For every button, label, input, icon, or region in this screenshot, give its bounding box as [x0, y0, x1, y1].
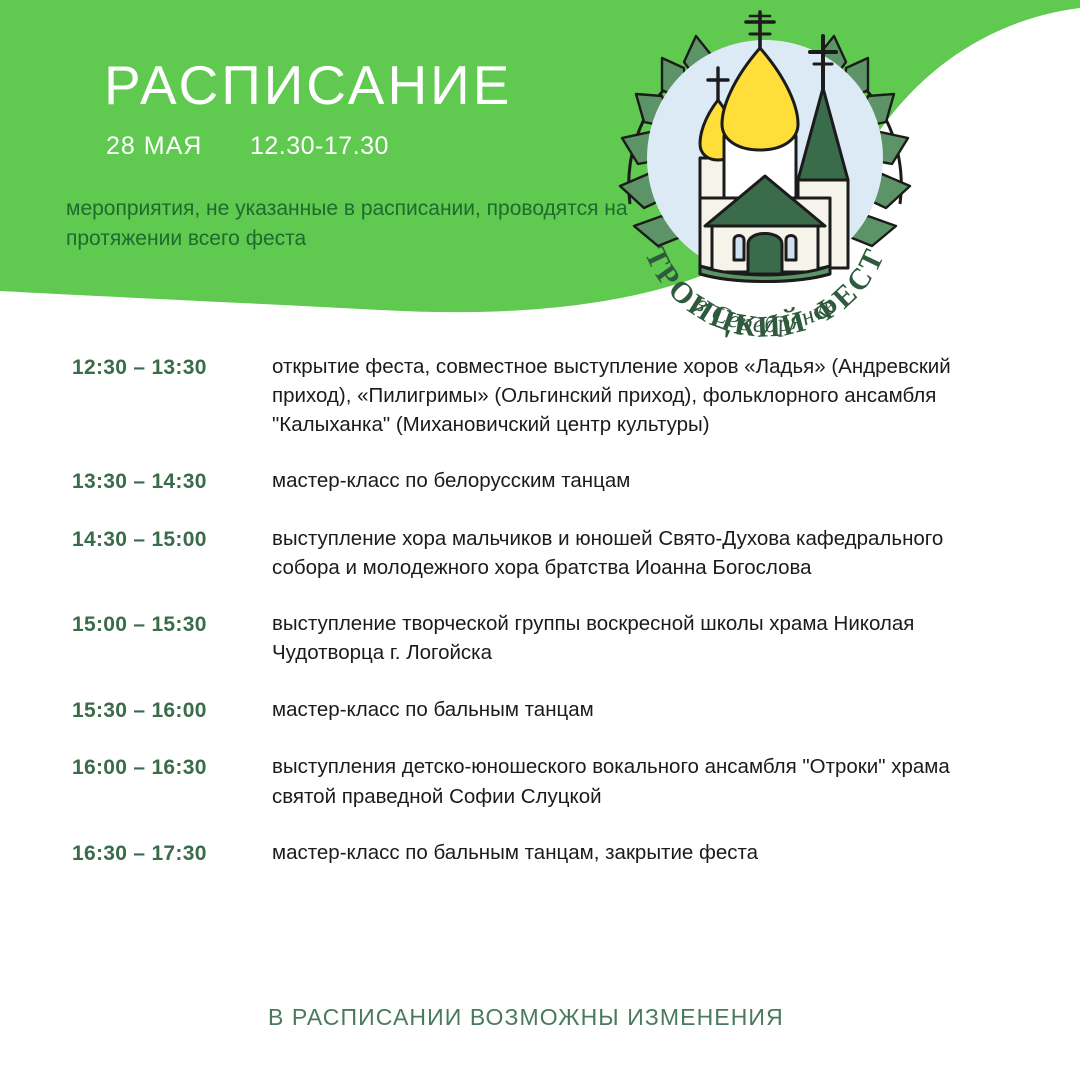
schedule-list: 12:30 – 13:30 открытие феста, совместное… [0, 352, 1080, 895]
schedule-row-time: 15:30 – 16:00 [72, 695, 272, 726]
schedule-row: 15:00 – 15:30 выступление творческой гру… [0, 609, 1080, 667]
schedule-row-time: 12:30 – 13:30 [72, 352, 272, 383]
schedule-footer-note: В РАСПИСАНИИ ВОЗМОЖНЫ ИЗМЕНЕНИЯ [0, 1004, 1080, 1031]
schedule-row-time: 16:00 – 16:30 [72, 752, 272, 783]
festival-logo: ТРОИЦКИЙ ФЕСТ в Серебрянке [600, 8, 930, 348]
schedule-row: 14:30 – 15:00 выступление хора мальчиков… [0, 524, 1080, 582]
schedule-row-description: выступления детско-юношеского вокального… [272, 752, 1010, 810]
header-time-range: 12.30-17.30 [250, 132, 389, 161]
header-note: мероприятия, не указанные в расписании, … [66, 194, 646, 255]
schedule-row-time: 16:30 – 17:30 [72, 838, 272, 869]
schedule-row-time: 15:00 – 15:30 [72, 609, 272, 640]
schedule-row-description: выступление творческой группы воскресной… [272, 609, 1010, 667]
schedule-row: 16:00 – 16:30 выступления детско-юношеск… [0, 752, 1080, 810]
header-date: 28 МАЯ [106, 132, 202, 161]
page-title: РАСПИСАНИЕ [104, 58, 512, 113]
schedule-row-time: 13:30 – 14:30 [72, 466, 272, 497]
schedule-row: 16:30 – 17:30 мастер-класс по бальным та… [0, 838, 1080, 869]
schedule-row-description: мастер-класс по бальным танцам, закрытие… [272, 838, 1010, 867]
schedule-row-description: выступление хора мальчиков и юношей Свят… [272, 524, 1010, 582]
schedule-row-time: 14:30 – 15:00 [72, 524, 272, 555]
schedule-row-description: мастер-класс по бальным танцам [272, 695, 1010, 724]
schedule-row-description: открытие феста, совместное выступление х… [272, 352, 1010, 439]
schedule-row: 12:30 – 13:30 открытие феста, совместное… [0, 352, 1080, 439]
schedule-row-description: мастер-класс по белорусским танцам [272, 466, 1010, 495]
schedule-row: 15:30 – 16:00 мастер-класс по бальным та… [0, 695, 1080, 726]
schedule-row: 13:30 – 14:30 мастер-класс по белорусски… [0, 466, 1080, 497]
